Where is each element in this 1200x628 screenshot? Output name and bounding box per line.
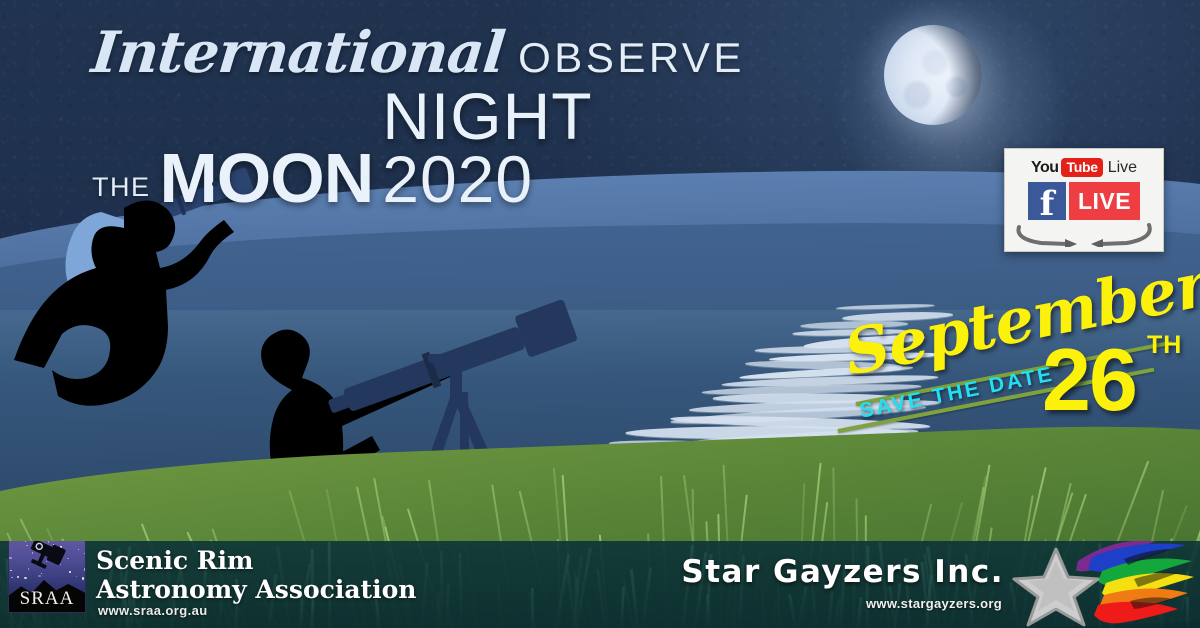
- headline-international: International: [89, 24, 507, 81]
- sraa-logo-star: [9, 557, 11, 559]
- youtube-live-text: Live: [1108, 159, 1137, 177]
- headline-moon: MOON: [160, 146, 374, 210]
- headline-observe: OBSERVE: [518, 37, 745, 79]
- sraa-logo-star: [24, 577, 26, 579]
- youtube-you-text: You: [1031, 159, 1059, 177]
- facebook-live-box: LIVE: [1069, 182, 1140, 220]
- sraa-logo-star: [11, 577, 12, 578]
- sraa-logo[interactable]: SRAA: [8, 541, 86, 613]
- sraa-logo-star: [84, 568, 86, 570]
- facebook-f-icon: f: [1028, 182, 1066, 220]
- poster-canvas: International OBSERVE THE MOON NIGHT 202…: [0, 0, 1200, 628]
- live-stream-badge[interactable]: You Tube Live f LIVE: [1004, 148, 1164, 252]
- adult-observer-silhouette: [14, 200, 234, 405]
- facebook-live-logo[interactable]: f LIVE: [1028, 182, 1140, 220]
- stargayzers-star-logo[interactable]: [1006, 541, 1196, 628]
- moon-crater-dot: [212, 181, 218, 187]
- event-day: 26: [1042, 336, 1136, 424]
- sraa-logo-star: [10, 570, 11, 571]
- headline-night-year: NIGHT 2020: [382, 85, 732, 210]
- sraa-telescope-icon: [27, 541, 69, 573]
- save-the-date-group: September SAVE THE DATE 26 TH: [842, 276, 1192, 451]
- sraa-name-line1: Scenic Rim: [96, 547, 416, 576]
- sraa-logo-star: [12, 577, 13, 578]
- stargayzers-website-url[interactable]: www.stargayzers.org: [866, 596, 1002, 611]
- headline-the: THE: [92, 174, 151, 201]
- circular-arrows-icon: [1009, 221, 1159, 247]
- sraa-logo-star: [82, 577, 84, 579]
- sraa-organisation-name: Scenic Rim Astronomy Association: [96, 547, 416, 604]
- sraa-logo-star: [41, 573, 42, 574]
- youtube-live-logo[interactable]: You Tube Live: [1031, 158, 1137, 177]
- footer-bar: SRAA Scenic Rim Astronomy Association ww…: [0, 541, 1200, 628]
- sraa-logo-star: [38, 575, 40, 577]
- sraa-acronym: SRAA: [9, 588, 85, 610]
- sraa-logo-star: [17, 576, 19, 578]
- event-day-suffix: TH: [1147, 331, 1182, 360]
- sraa-logo-star: [84, 553, 85, 554]
- stargayzers-name: Star Gayzers Inc.: [681, 554, 1004, 590]
- sraa-logo-star: [76, 576, 77, 577]
- youtube-tube-box: Tube: [1061, 158, 1102, 177]
- sraa-name-line2: Astronomy Association: [96, 576, 416, 605]
- sraa-logo-star: [69, 571, 71, 573]
- moon-terminator-shadow: [884, 25, 982, 125]
- sraa-website-url[interactable]: www.sraa.org.au: [98, 603, 208, 618]
- headline-group: International OBSERVE THE MOON NIGHT 202…: [92, 24, 732, 210]
- sraa-logo-star: [78, 549, 79, 550]
